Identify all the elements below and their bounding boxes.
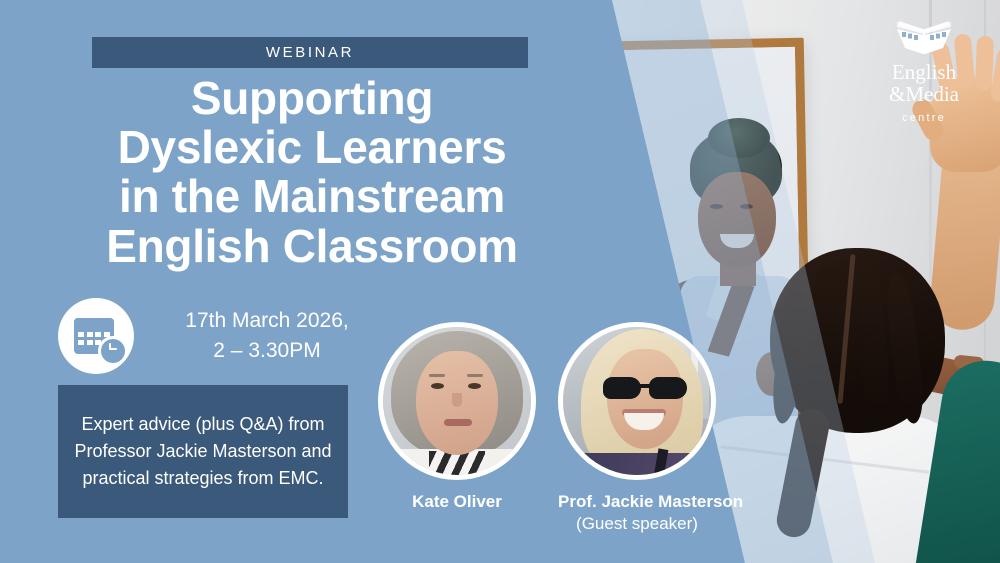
event-date-text: 17th March 2026, 2 – 3.30PM: [156, 306, 378, 367]
kate-brow-right: [467, 374, 483, 377]
logo-line-centre: centre: [870, 112, 978, 124]
speaker-kate-oliver: Kate Oliver: [378, 322, 536, 534]
title-line-1: Supporting: [12, 74, 612, 123]
calendar-header: [74, 318, 114, 328]
webinar-banner-label: WEBINAR: [266, 44, 354, 61]
speaker-row: Kate Oliver: [378, 322, 718, 534]
speaker-photo-kate-oliver: [378, 322, 536, 480]
clock-face: [98, 336, 128, 366]
kate-mouth: [444, 419, 472, 426]
speaker-subtitle-jackie-masterson: (Guest speaker): [558, 514, 716, 534]
speakers-section: Kate Oliver: [378, 322, 718, 534]
sunglasses-icon: [603, 377, 689, 399]
emc-logo: English &Media centre: [870, 18, 978, 124]
speaker-name-jackie-masterson: Prof. Jackie Masterson: [558, 492, 716, 512]
description-text: Expert advice (plus Q&A) from Professor …: [58, 411, 348, 492]
kate-brow-left: [429, 374, 445, 377]
title-line-3: in the Mainstream: [12, 172, 612, 221]
jackie-lens-left: [603, 377, 641, 399]
title-line-4: English Classroom: [12, 222, 612, 271]
webinar-poster: WEBINAR Supporting Dyslexic Learners in …: [0, 0, 1000, 563]
event-date-line-2: 2 – 3.30PM: [156, 336, 378, 366]
jackie-lens-right: [649, 377, 687, 399]
event-date-row: 17th March 2026, 2 – 3.30PM: [58, 298, 378, 374]
jackie-face: [607, 349, 683, 449]
logo-line-english: English: [870, 62, 978, 83]
kate-eye-right: [468, 383, 481, 389]
speaker-photo-jackie-masterson: [558, 322, 716, 480]
speaker-name-kate-oliver: Kate Oliver: [378, 492, 536, 512]
description-box: Expert advice (plus Q&A) from Professor …: [58, 385, 348, 518]
clock-minute-hand: [110, 348, 117, 350]
kate-top-pattern: [429, 451, 485, 480]
logo-line-media: &Media: [870, 83, 978, 107]
page-title: Supporting Dyslexic Learners in the Main…: [12, 74, 612, 271]
jackie-top: [565, 453, 715, 480]
webinar-banner: WEBINAR: [92, 37, 528, 68]
event-date-line-1: 17th March 2026,: [156, 306, 378, 336]
kate-eye-left: [431, 383, 444, 389]
kate-nose: [452, 393, 462, 407]
open-book-icon: [893, 18, 955, 56]
title-line-2: Dyslexic Learners: [12, 123, 612, 172]
calendar-clock-icon: [58, 298, 134, 374]
speaker-jackie-masterson: Prof. Jackie Masterson (Guest speaker): [558, 322, 716, 534]
